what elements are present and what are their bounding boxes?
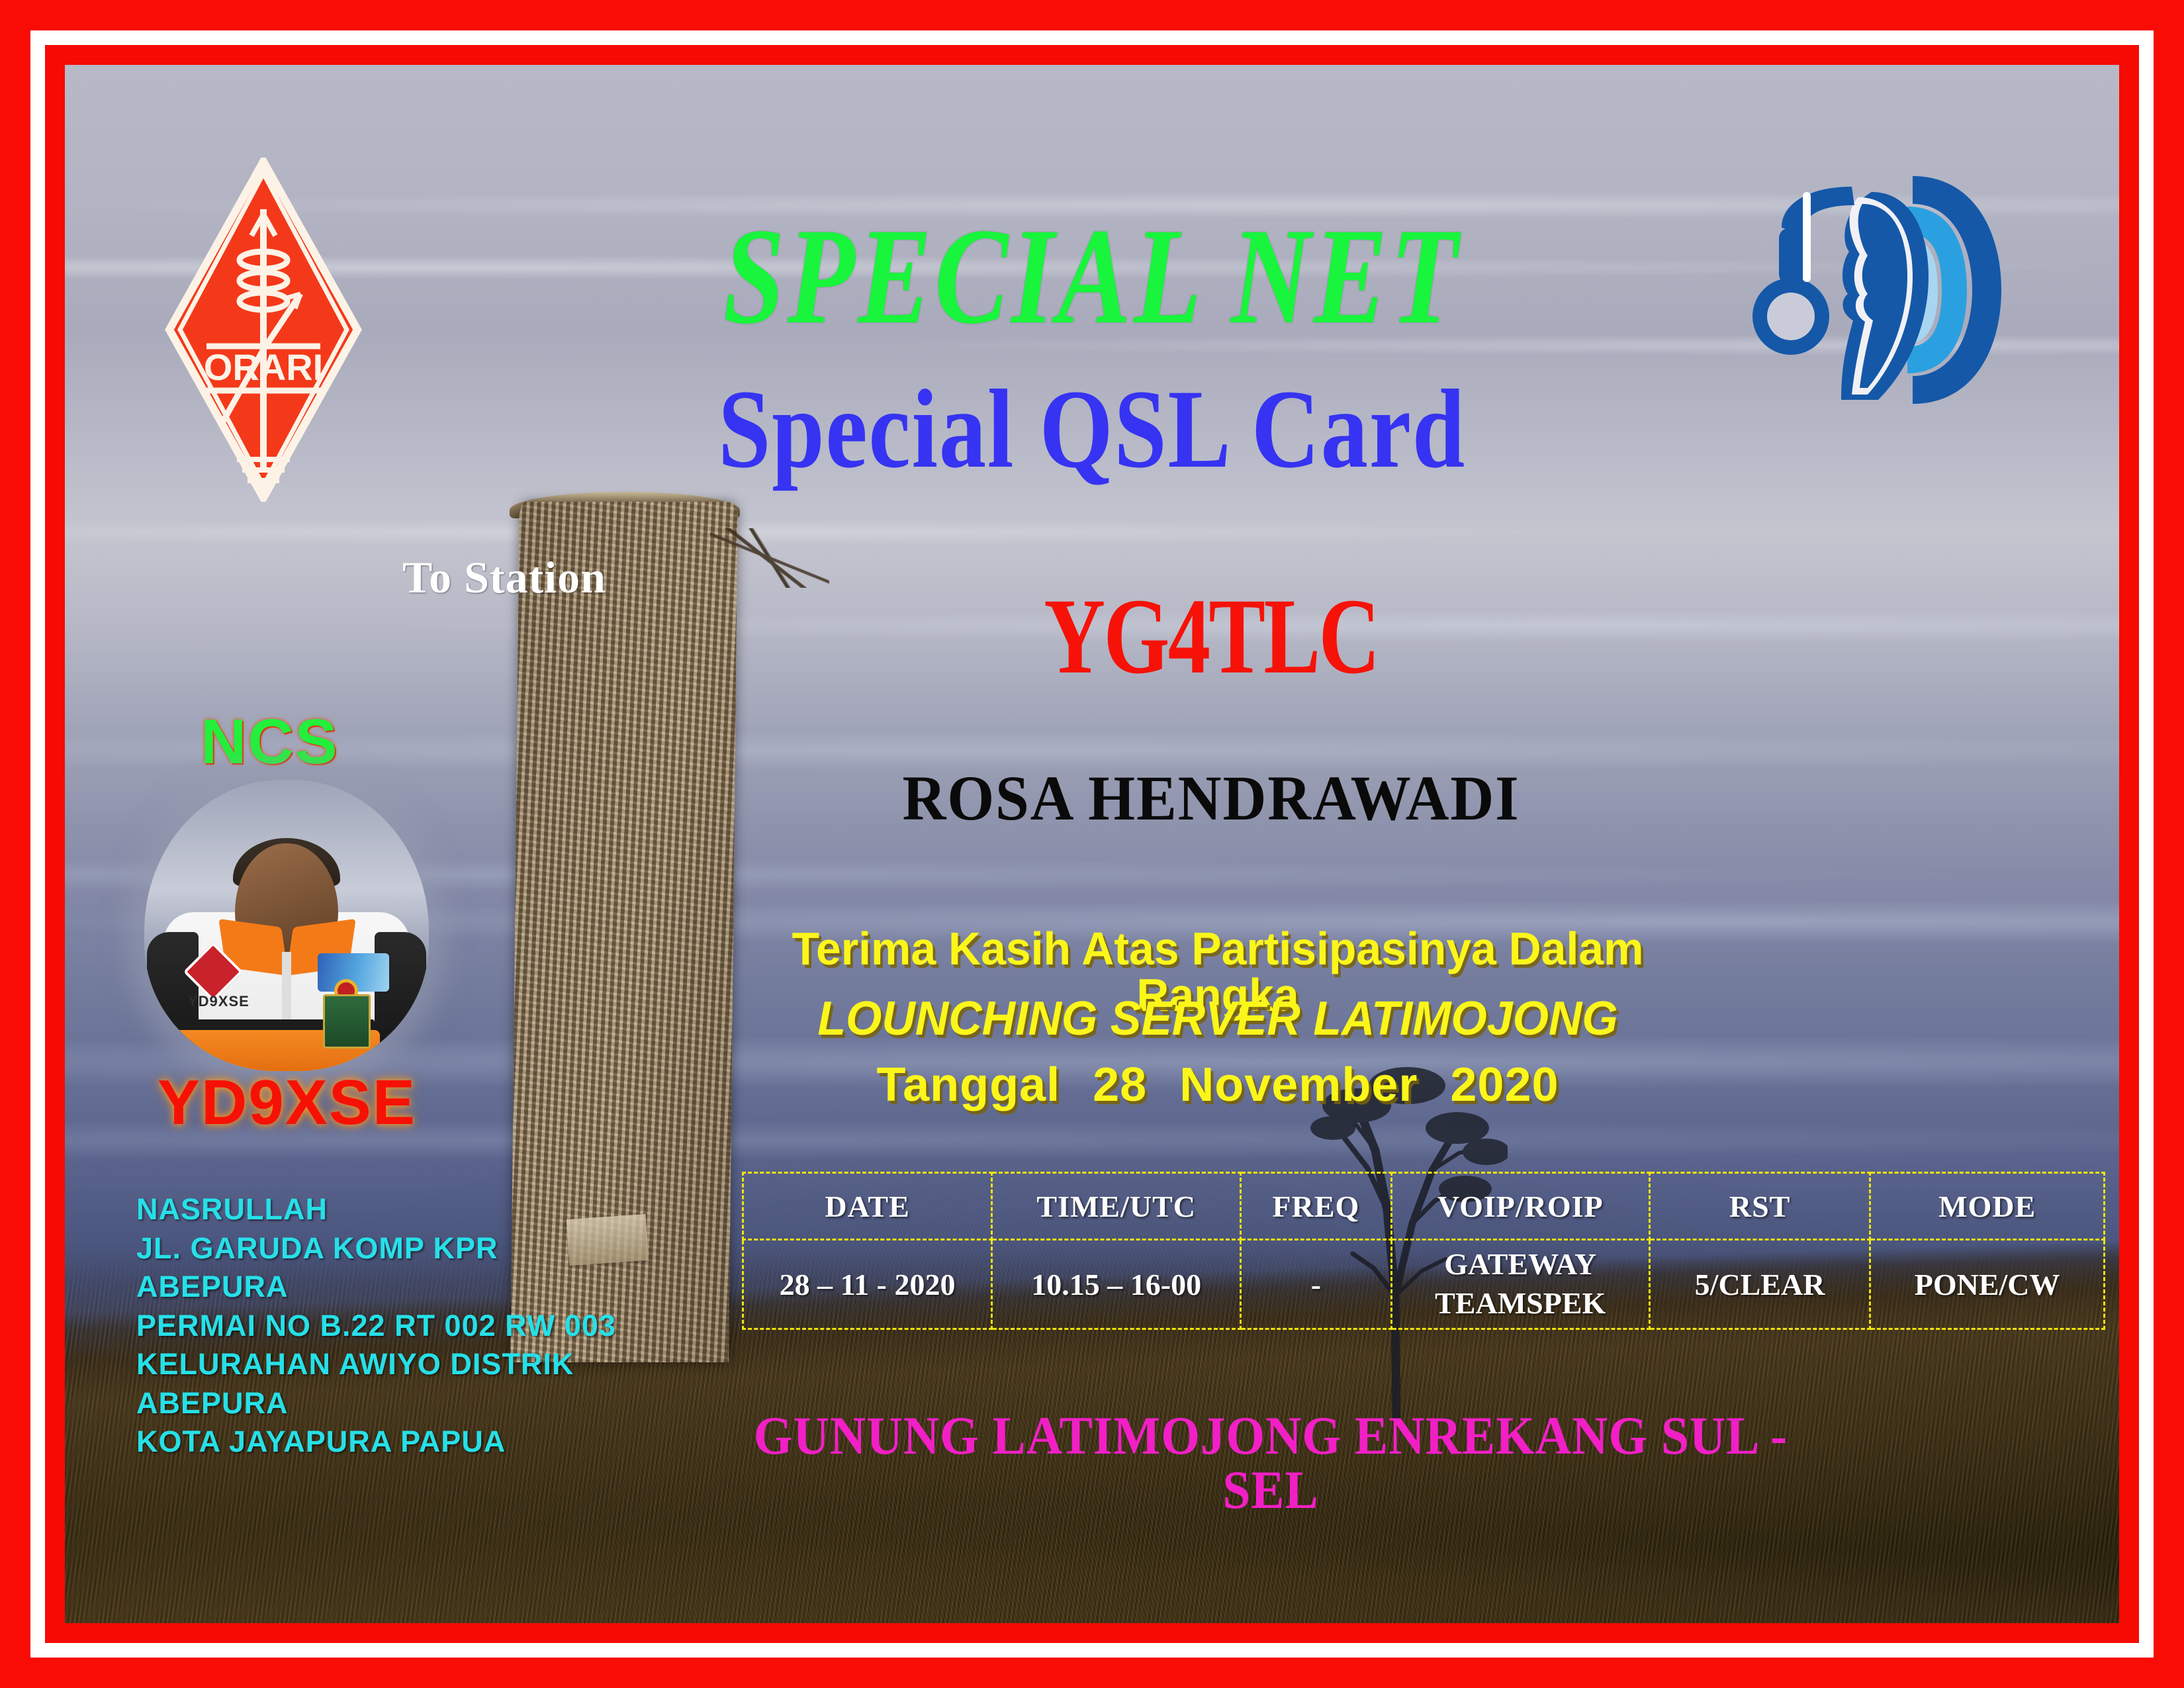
cell-voip-line1: GATEWAY — [1392, 1245, 1649, 1284]
ncs-label: NCS — [201, 710, 339, 774]
event-date-line: Tanggal 28 November 2020 — [727, 1061, 1709, 1109]
address-line: ABEPURA — [136, 1384, 679, 1423]
cell-time: 10.15 – 16-00 — [992, 1240, 1241, 1329]
ncs-address-block: NASRULLAH JL. GARUDA KOMP KPR ABEPURA PE… — [136, 1190, 679, 1462]
col-header-date: DATE — [743, 1173, 992, 1240]
table-header-row: DATE TIME/UTC FREQ VOIP/ROIP RST MODE — [743, 1173, 2105, 1240]
col-header-time: TIME/UTC — [992, 1173, 1241, 1240]
col-header-freq: FREQ — [1241, 1173, 1391, 1240]
address-line: KOTA JAYAPURA PAPUA — [136, 1423, 679, 1462]
col-header-voip: VOIP/ROIP — [1391, 1173, 1649, 1240]
ncs-operator-photo: YD9XSE — [144, 780, 429, 1071]
card-inner-red-border: ORARI — [45, 45, 2139, 1643]
cell-freq: - — [1241, 1240, 1391, 1329]
cairn-twigs — [710, 528, 829, 588]
page-title: SPECIAL NET — [270, 207, 1913, 345]
date-day: 28 — [1093, 1058, 1147, 1111]
cell-mode: PONE/CW — [1870, 1240, 2105, 1329]
to-station-label: To Station — [402, 551, 606, 604]
date-month: November — [1179, 1058, 1418, 1111]
station-callsign: YG4TLC — [919, 582, 1504, 690]
address-line: PERMAI NO B.22 RT 002 RW 003 — [136, 1307, 679, 1346]
page-subtitle: Special QSL Card — [229, 373, 1954, 485]
cell-rst: 5/CLEAR — [1649, 1240, 1870, 1329]
table-row: 28 – 11 - 2020 10.15 – 16-00 - GATEWAY T… — [743, 1240, 2105, 1329]
qsl-card: ORARI — [0, 0, 2184, 1688]
col-header-rst: RST — [1649, 1173, 1870, 1240]
date-year: 2020 — [1450, 1058, 1559, 1111]
address-line: ABEPURA — [136, 1268, 679, 1307]
shirt-callsign-text: YD9XSE — [188, 993, 250, 1010]
event-line: LOUNCHING SERVER LATIMOJONG — [741, 995, 1694, 1043]
date-label: Tanggal — [876, 1058, 1060, 1111]
location-line: GUNUNG LATIMOJONG ENREKANG SUL - SEL — [734, 1409, 1808, 1517]
qso-log-table: DATE TIME/UTC FREQ VOIP/ROIP RST MODE 28… — [742, 1172, 2105, 1330]
address-line: NASRULLAH — [136, 1190, 679, 1229]
operator-name: ROSA HENDRAWADI — [789, 767, 1634, 830]
address-line: KELURAHAN AWIYO DISTRIK — [136, 1345, 679, 1384]
cell-voip-line2: TEAMSPEK — [1392, 1284, 1649, 1323]
cell-voip: GATEWAY TEAMSPEK — [1391, 1240, 1649, 1329]
col-header-mode: MODE — [1870, 1173, 2105, 1240]
address-line: JL. GARUDA KOMP KPR — [136, 1229, 679, 1268]
cell-date: 28 – 11 - 2020 — [743, 1240, 992, 1329]
card-photo-area: ORARI — [65, 65, 2119, 1623]
card-white-gap: ORARI — [30, 30, 2154, 1658]
ncs-callsign: YD9XSE — [158, 1071, 416, 1135]
